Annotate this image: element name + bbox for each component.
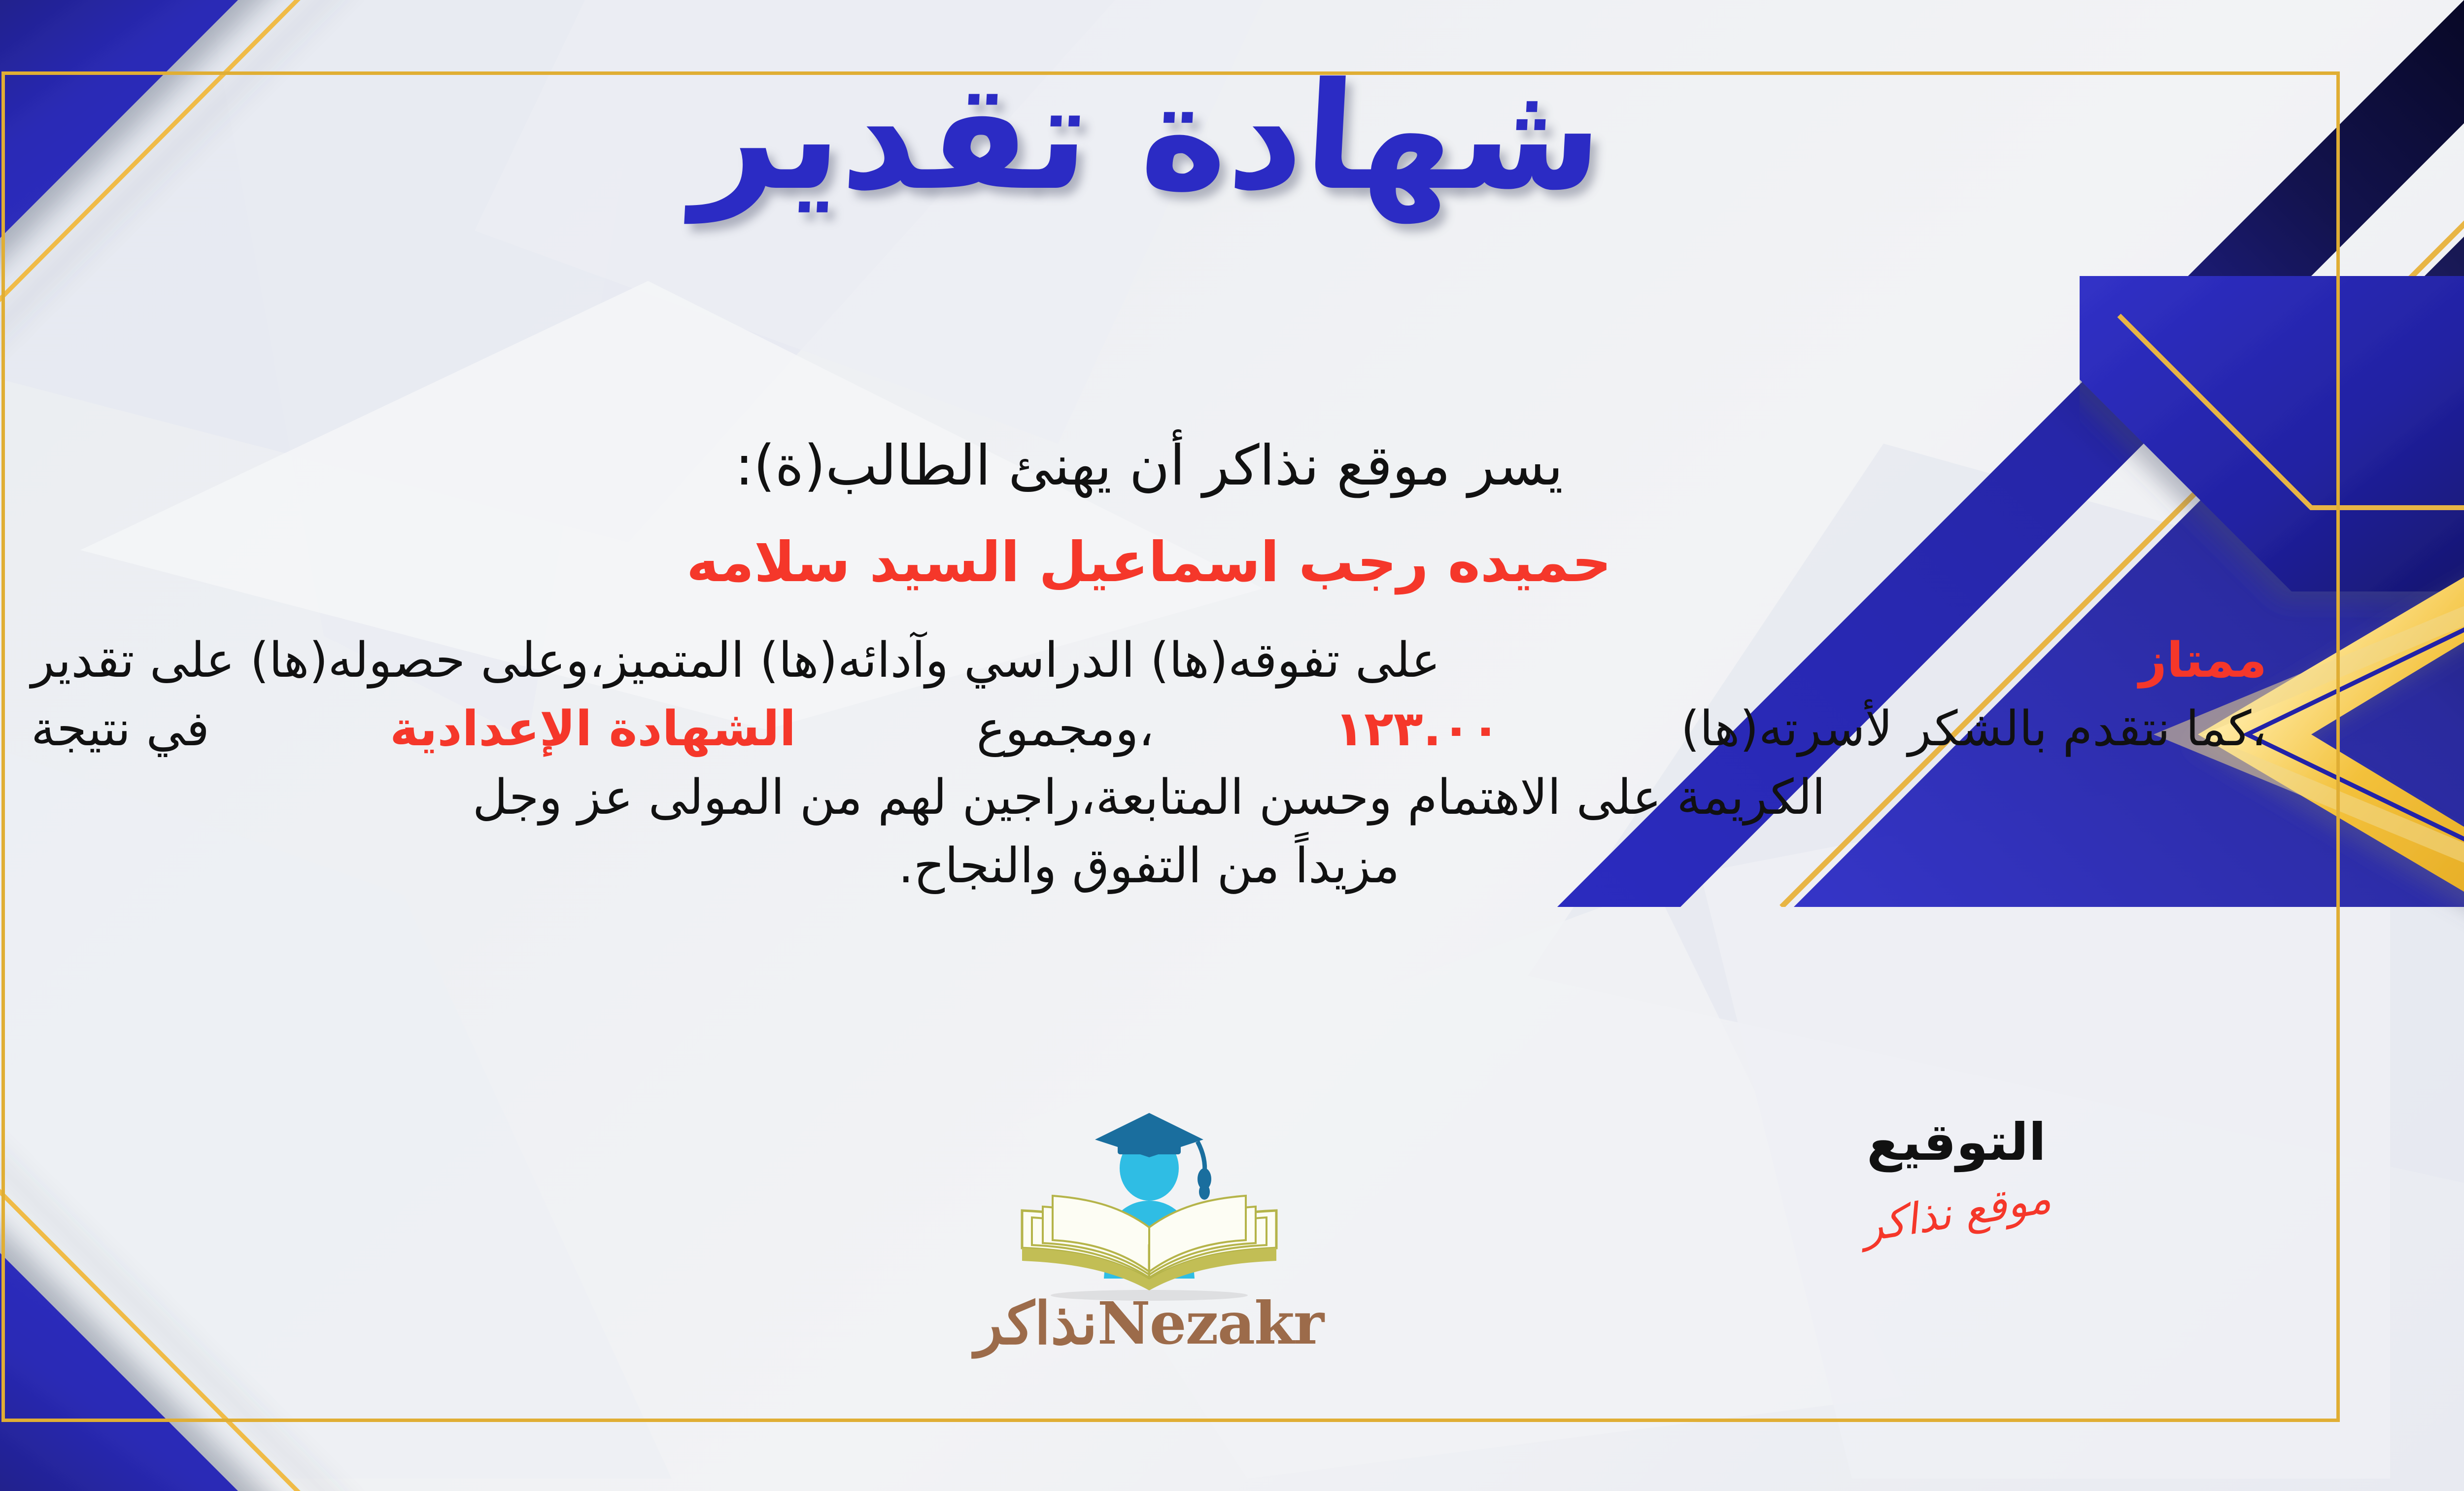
logo-wordmark: Nezakrنذاكر [962,1294,1336,1352]
paragraph-line-1-main: على تفوقه(ها) الدراسي وآدائه(ها) المتميز… [31,626,1440,695]
logo-wordmark-arabic: نذاكر [975,1289,1097,1357]
certificate-canvas: شهادة تقدير يسر موقع نذاكر أن يهنئ الطال… [0,0,2464,1491]
body-paragraph: على تفوقه(ها) الدراسي وآدائه(ها) المتميز… [31,626,2267,901]
logo-wordmark-latin: Nezakr [1097,1289,1323,1357]
signature-label: التوقيع [1828,1114,2085,1170]
paragraph-line-2-prefix: في نتيجة [31,695,209,763]
exam-name: الشهادة الإعدادية [390,695,796,763]
total-score: ١٢٣.٠٠ [1335,695,1500,763]
paragraph-line-2: في نتيجة الشهادة الإعدادية ،ومجموع ١٢٣.٠… [31,695,2267,763]
signature-area: التوقيع موقع نذاكر [1828,1114,2085,1237]
graduate-book-logo-icon [992,1104,1307,1301]
paragraph-line-4: مزيداً من التفوق والنجاح. [31,832,2267,901]
certificate-footer: التوقيع موقع نذاكر [0,1114,2464,1410]
congratulation-line: يسر موقع نذاكر أن يهنئ الطالب(ة): [31,429,2267,503]
paragraph-line-4-text: مزيداً من التفوق والنجاح. [898,832,1400,901]
certificate-title: شهادة تقدير [0,59,2464,214]
paragraph-line-3: الكريمة على الاهتمام وحسن المتابعة،راجين… [31,763,2267,832]
site-logo: Nezakrنذاكر [962,1104,1336,1352]
paragraph-line-1: على تفوقه(ها) الدراسي وآدائه(ها) المتميز… [31,626,2267,695]
certificate-body: يسر موقع نذاكر أن يهنئ الطالب(ة): حميده … [31,429,2267,901]
paragraph-line-2-suffix: ،كما نتقدم بالشكر لأسرته(ها) [1681,695,2267,763]
title-text: شهادة تقدير [691,59,1607,214]
signature-handwritten: موقع نذاكر [1859,1174,2054,1252]
student-name: حميده رجب اسماعيل السيد سلامه [31,527,2267,599]
paragraph-line-2-mid: ،ومجموع [976,695,1154,763]
grade-value: ممتاز [2139,626,2267,695]
paragraph-line-3-text: الكريمة على الاهتمام وحسن المتابعة،راجين… [473,763,1825,832]
